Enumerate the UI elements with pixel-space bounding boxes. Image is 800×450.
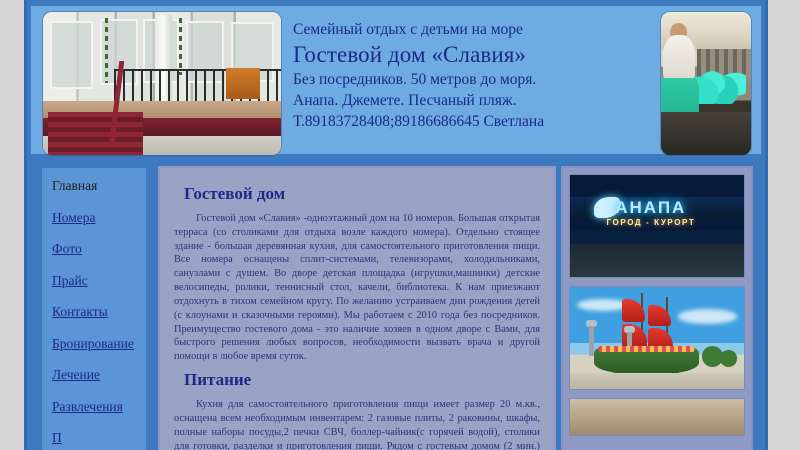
sidebar-item-kontakty[interactable]: Контакты <box>42 304 146 320</box>
sidebar-item-razvlecheniya[interactable]: Развлечения <box>42 399 146 415</box>
sidebar-item-nomera[interactable]: Номера <box>42 210 146 226</box>
sidebar-item-foto[interactable]: Фото <box>42 241 146 257</box>
anapa-sign-subtext: ГОРОД - КУРОРТ <box>607 218 696 227</box>
section-text-meals: Кухня для самостоятельного приготовления… <box>174 398 540 450</box>
header-photo-woman-fountain <box>661 12 751 155</box>
photo-rail: АНАПА ГОРОД - КУРОРТ <box>561 166 753 450</box>
photo-third-partial[interactable] <box>569 398 745 436</box>
main-content: Гостевой дом Гостевой дом «Славия» -одно… <box>158 166 556 450</box>
site-header: Семейный отдых с детьми на море Гостевой… <box>27 0 765 158</box>
header-line-no-agents: Без посредников. 50 метров до моря. <box>293 70 663 90</box>
header-line-location: Анапа. Джемете. Песчаный пляж. <box>293 91 663 111</box>
site-body: Главная Номера Фото Прайс Контакты Брони… <box>27 158 765 450</box>
section-title-guesthouse: Гостевой дом <box>184 184 540 204</box>
header-photo-guesthouse-terrace <box>43 12 281 155</box>
page-root: Семейный отдых с детьми на море Гостевой… <box>0 0 800 450</box>
sidebar-item-bronirovanie[interactable]: Бронирование <box>42 336 146 352</box>
sidebar-nav: Главная Номера Фото Прайс Контакты Брони… <box>40 166 148 450</box>
photo-scarlet-sails-ship[interactable] <box>569 286 745 390</box>
section-text-guesthouse: Гостевой дом «Славия» -одноэтажный дом н… <box>174 212 540 364</box>
sidebar-item-partial[interactable]: П <box>42 430 146 446</box>
header-line-phone: Т.89183728408;89186686645 Светлана <box>293 112 663 132</box>
sidebar-item-prays[interactable]: Прайс <box>42 273 146 289</box>
sidebar-item-lechenie[interactable]: Лечение <box>42 367 146 383</box>
anapa-sign-text: АНАПА <box>615 198 686 218</box>
header-tagline: Семейный отдых с детьми на море <box>293 20 663 40</box>
header-text-block: Семейный отдых с детьми на море Гостевой… <box>293 20 663 131</box>
sidebar-item-glavnaya[interactable]: Главная <box>42 178 146 194</box>
header-title: Гостевой дом «Славия» <box>293 41 663 70</box>
photo-anapa-night-sign[interactable]: АНАПА ГОРОД - КУРОРТ <box>569 174 745 278</box>
section-title-meals: Питание <box>184 370 540 390</box>
